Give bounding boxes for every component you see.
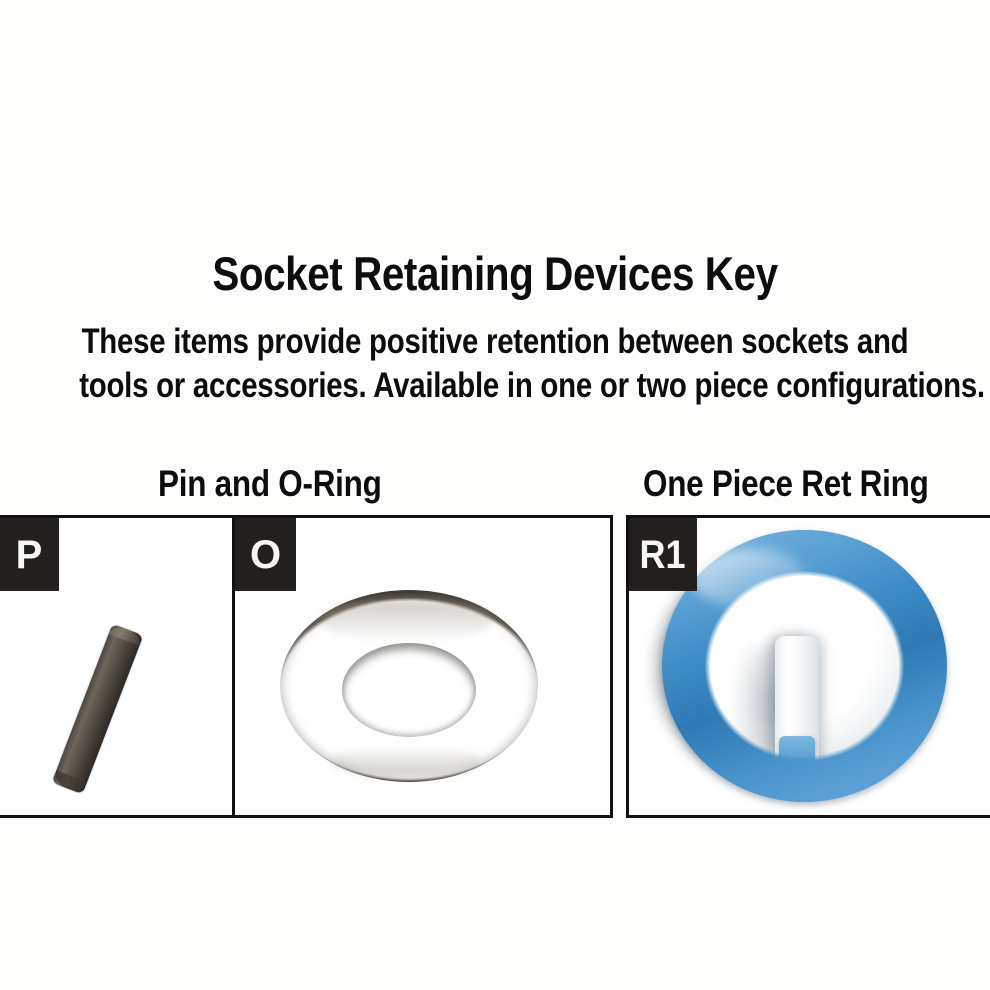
socket-retaining-devices-key-figure: Socket Retaining Devices Key These items… — [0, 0, 990, 990]
ret-ring-gloss — [691, 548, 806, 608]
o-ring-icon — [280, 590, 538, 782]
badge-pin: P — [0, 518, 59, 591]
panel-one-piece-ret-ring: R1 — [626, 515, 990, 818]
description-line-2: tools or accessories. Available in one o… — [79, 364, 911, 408]
badge-o-ring: O — [235, 518, 296, 591]
group-heading-one-piece-ret-ring: One Piece Ret Ring — [643, 463, 929, 505]
page-title: Socket Retaining Devices Key — [69, 248, 920, 300]
description-text: These items provide positive retention b… — [79, 320, 911, 408]
group-heading-pin-and-o-ring: Pin and O-Ring — [158, 463, 382, 505]
o-ring-highlight-bottom — [332, 746, 482, 777]
pin-icon — [52, 624, 144, 795]
o-ring-highlight-top — [321, 600, 491, 642]
o-ring-bore — [342, 643, 476, 737]
badge-pin-label: P — [16, 535, 43, 575]
badge-ret-ring-label: R1 — [640, 535, 686, 575]
panel-pin-and-o-ring: P O — [0, 515, 613, 818]
cell-pin: P — [0, 518, 232, 815]
cell-o-ring: O — [232, 518, 610, 815]
badge-ret-ring: R1 — [629, 518, 697, 591]
cell-ret-ring: R1 — [629, 518, 990, 815]
badge-o-ring-label: O — [250, 535, 281, 575]
description-line-1: These items provide positive retention b… — [79, 320, 911, 364]
